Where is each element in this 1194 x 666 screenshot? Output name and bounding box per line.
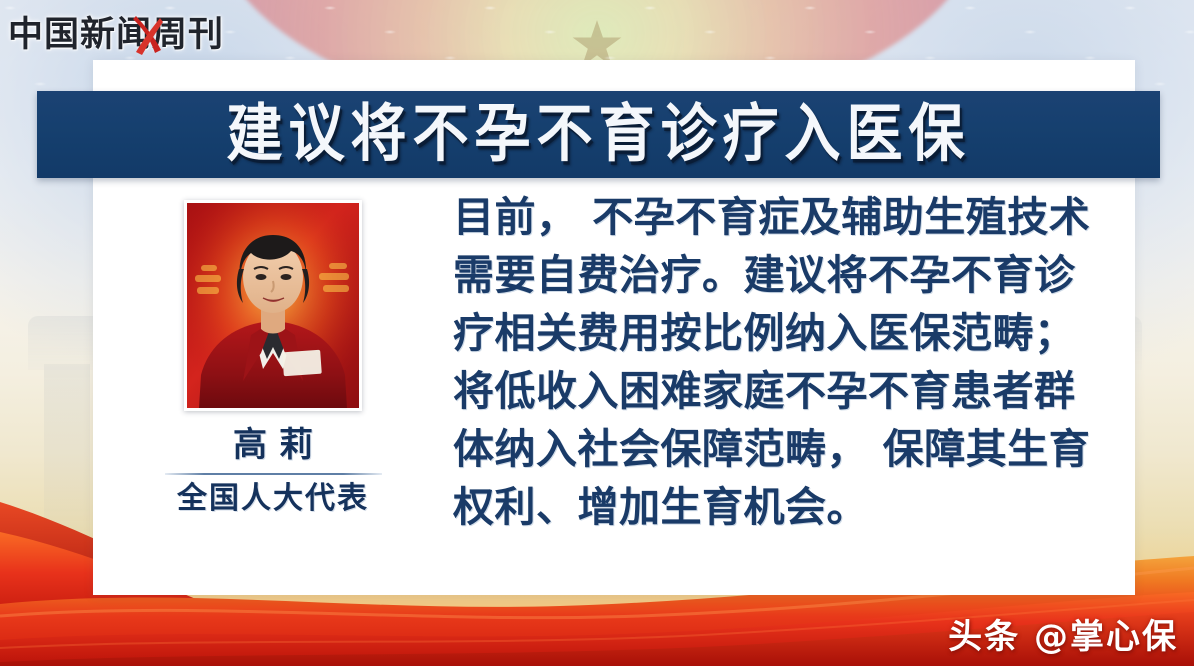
magazine-logo: 中国新闻周刊 xyxy=(8,12,224,58)
portrait-photo xyxy=(184,200,362,411)
poster-canvas: 中国新闻周刊 xyxy=(0,0,1194,666)
statement-line: 需要自费治疗。建议将不孕不育诊 xyxy=(453,246,1111,304)
statement-text: 目前， 不孕不育症及辅助生殖技术 需要自费治疗。建议将不孕不育诊 疗相关费用按比… xyxy=(453,178,1135,595)
statement-line: 体纳入社会保障范畴， 保障其生育 xyxy=(453,420,1111,478)
portrait-column: 高莉 全国人大代表 xyxy=(93,178,453,595)
statement-line: 目前， 不孕不育症及辅助生殖技术 xyxy=(453,188,1111,246)
page-title: 建议将不孕不育诊疗入医保 xyxy=(227,103,971,166)
card-body: 高莉 全国人大代表 目前， 不孕不育症及辅助生殖技术 需要自费治疗。建议将不孕不… xyxy=(93,178,1135,595)
person-name: 高莉 xyxy=(221,428,325,462)
statement-line: 权利、增加生育机会。 xyxy=(453,478,1111,536)
statement-line: 疗相关费用按比例纳入医保范畴； xyxy=(453,304,1111,362)
magazine-logo-text: 中国新闻周刊 xyxy=(8,18,224,53)
watermark: 头条 @掌心保 xyxy=(948,620,1178,654)
statement-line: 将低收入困难家庭不孕不育患者群 xyxy=(453,362,1111,420)
person-role: 全国人大代表 xyxy=(177,484,369,514)
name-divider xyxy=(165,473,382,475)
title-banner: 建议将不孕不育诊疗入医保 xyxy=(37,91,1160,178)
